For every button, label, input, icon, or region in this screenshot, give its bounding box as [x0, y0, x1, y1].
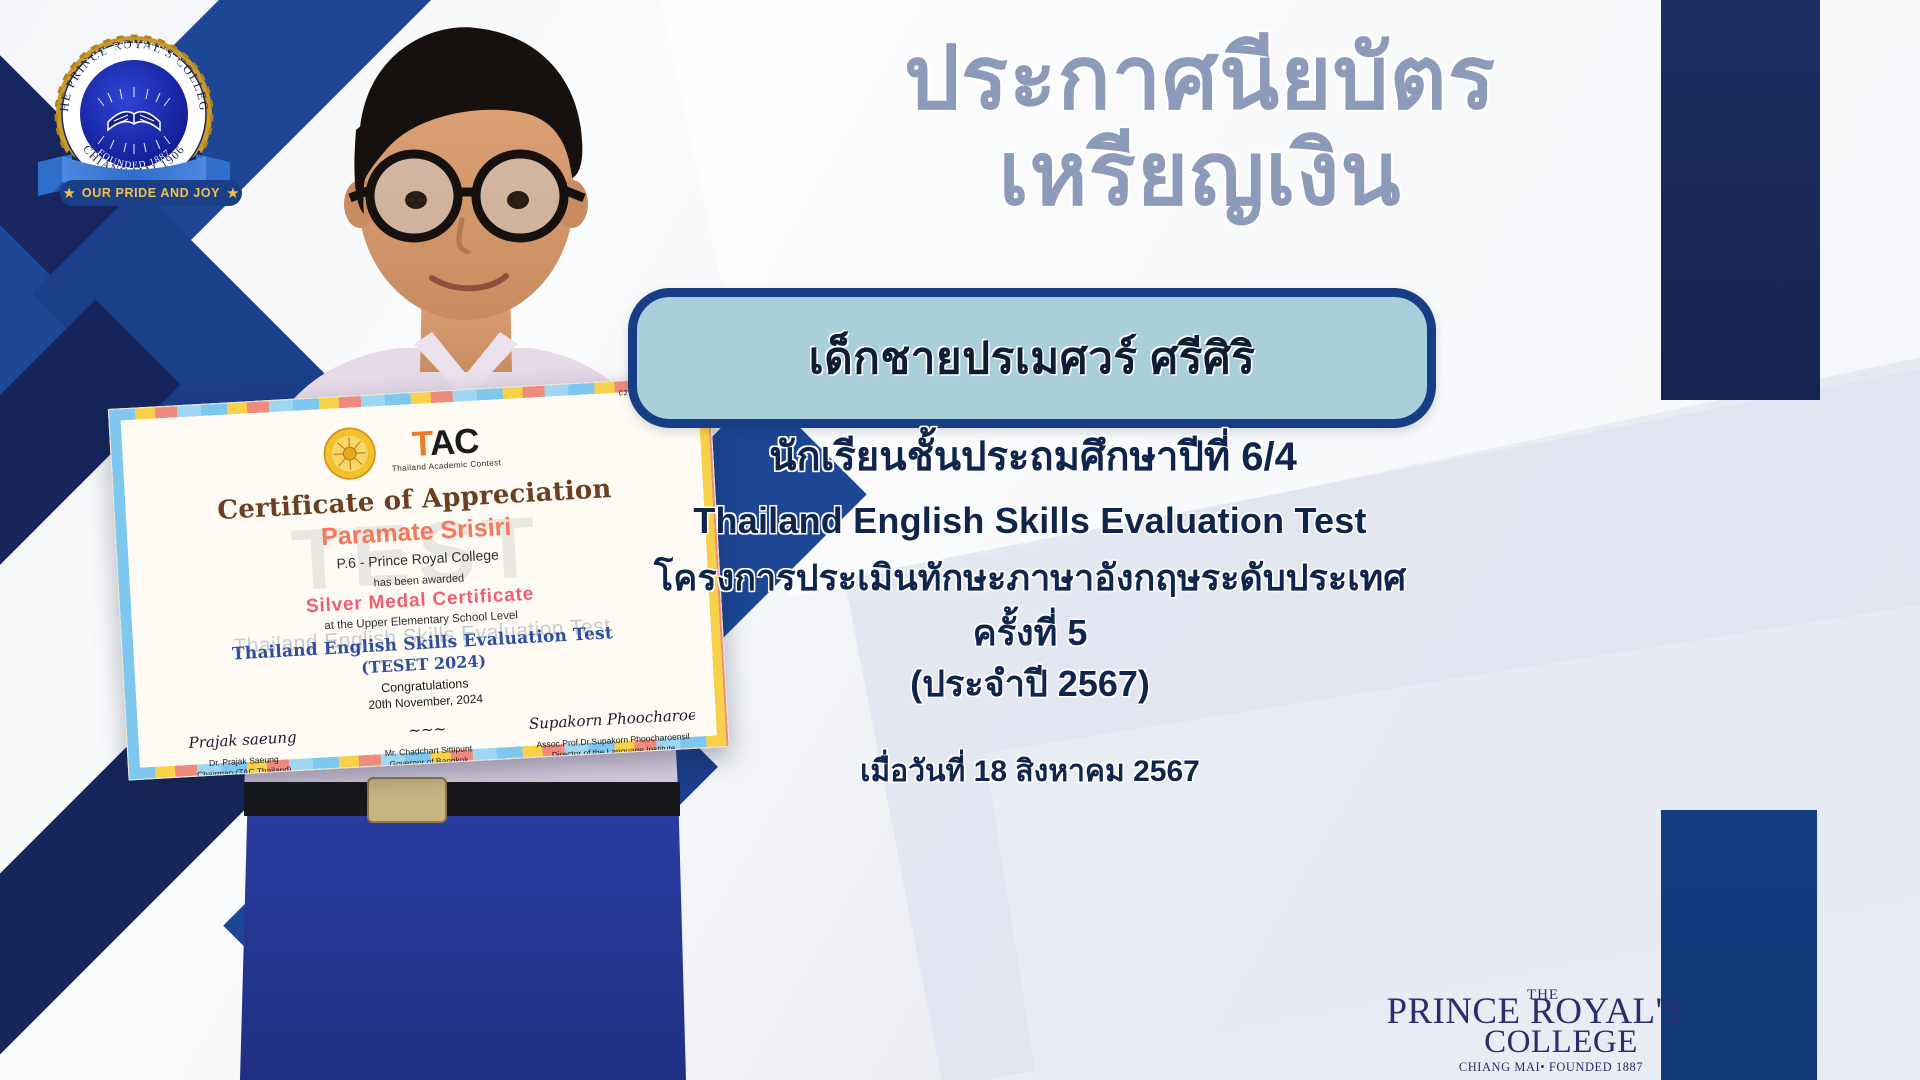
poster-canvas: TEST Thailand English Skills Evaluation … [0, 0, 1920, 1080]
wordmark-line-3: CHIANG MAI• FOUNDED 1887 [1417, 1061, 1685, 1073]
headline: ประกาศนียบัตร เหรียญเงิน [700, 34, 1700, 218]
school-crest: THE PRINCE ROYAL'S COLLEGE CHIANG MAI 19… [18, 8, 250, 208]
tac-letters-ac: AC [429, 421, 480, 463]
award-title-th: โครงการประเมินทักษะภาษาอังกฤษระดับประเทศ [600, 549, 1460, 606]
tac-letter-t: T [411, 424, 431, 464]
language-institute-seal-icon [321, 425, 378, 482]
tac-subtitle: Thailand Academic Contest [392, 458, 502, 473]
award-edition: ครั้งที่ 5 [600, 604, 1460, 661]
tac-logo: TAC Thailand Academic Contest [390, 423, 502, 473]
headline-line-1: ประกาศนียบัตร [700, 34, 1700, 122]
signature-block: Prajak saeung Dr. Prajak Saeung Chairman… [159, 726, 328, 780]
pride-banner: ★ OUR PRIDE AND JOY ★ [60, 180, 242, 206]
pride-banner-label: OUR PRIDE AND JOY [82, 186, 220, 200]
prc-wordmark: THE PRINCE ROYAL'S COLLEGE CHIANG MAI• F… [1385, 988, 1685, 1073]
star-icon-left: ★ [62, 186, 75, 201]
star-icon-right: ★ [226, 186, 239, 201]
student-grade: นักเรียนชั้นประถมศึกษาปีที่ 6/4 [628, 424, 1438, 488]
award-title-en: Thailand English Skills Evaluation Test [600, 500, 1460, 542]
student-name: เด็กชายปรเมศวร์ ศรีศิริ [809, 323, 1256, 393]
award-year: (ประจำปี 2567) [600, 655, 1460, 712]
student-name-banner: เด็กชายปรเมศวร์ ศรีศิริ [628, 288, 1436, 428]
headline-line-2: เหรียญเงิน [700, 130, 1700, 218]
event-date: เมื่อวันที่ 18 สิงหาคม 2567 [600, 748, 1460, 795]
school-seal-icon: THE PRINCE ROYAL'S COLLEGE CHIANG MAI 19… [18, 8, 250, 208]
